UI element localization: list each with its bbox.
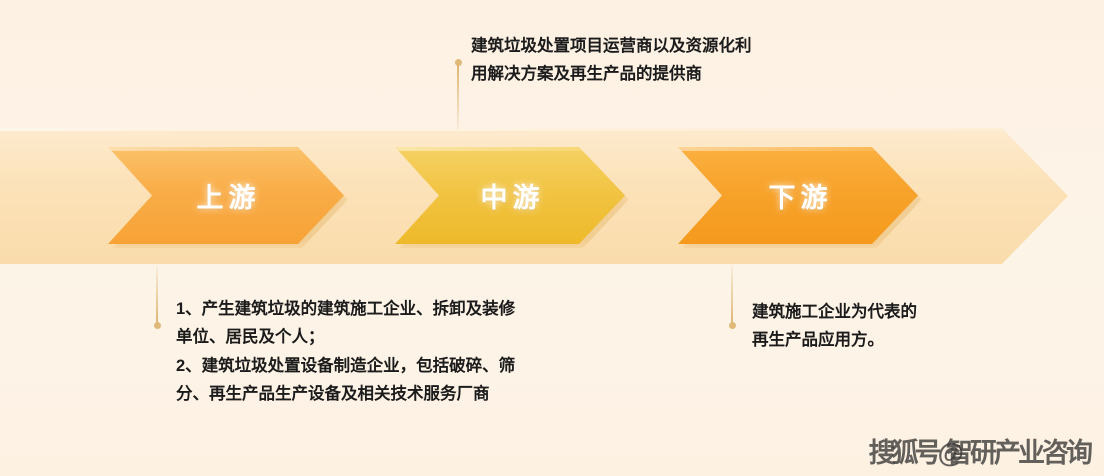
watermark: 搜狐号@智研产业咨询 [869,431,1090,470]
connector-line-downstream [731,266,733,326]
infographic-canvas: 建筑垃圾处置项目运营商以及资源化利 用解决方案及再生产品的提供商 上游 中游 下… [0,0,1104,476]
callout-midstream-description: 建筑垃圾处置项目运营商以及资源化利 用解决方案及再生产品的提供商 [471,32,752,89]
connector-dot-upstream [154,322,161,329]
callout-downstream-description: 建筑施工企业为代表的 再生产品应用方。 [752,298,917,355]
stage-label-downstream: 下游 [764,176,833,215]
callout-upstream-description: 1、产生建筑垃圾的建筑施工企业、拆卸及装修 单位、居民及个人； 2、建筑垃圾处置… [176,295,515,409]
connector-line-upstream [156,266,158,326]
connector-dot-midstream [455,59,462,66]
connector-dot-downstream [729,322,736,329]
stage-label-midstream: 中游 [476,176,545,215]
watermark-account-name: 智研产业咨询 [946,438,1090,468]
stage-label-upstream: 上游 [192,176,261,215]
connector-line-midstream [457,62,459,130]
